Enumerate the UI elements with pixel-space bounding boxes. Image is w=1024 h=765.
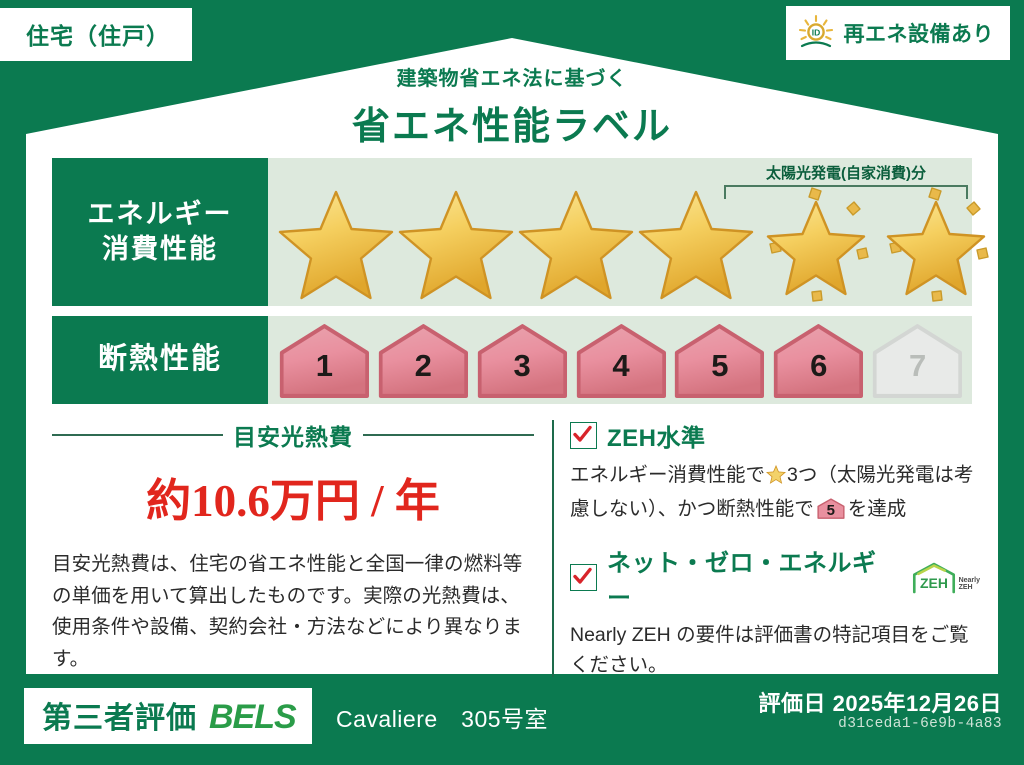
zeh-logo-sub-line1: Nearly	[959, 577, 980, 584]
insulation-grade-house: 5	[673, 322, 766, 400]
utility-cost-block: 目安光熱費 約10.6万円 / 年 目安光熱費は、住宅の省エネ性能と全国一律の燃…	[52, 418, 552, 681]
zeh-block: ZEH水準 エネルギー消費性能で3つ（太陽光発電は考慮しない）、かつ断熱性能で5…	[570, 418, 980, 681]
star-filled	[276, 186, 396, 304]
insulation-grade-house: 2	[377, 322, 470, 400]
utility-cost-value: 約10.6万円 / 年	[52, 464, 534, 529]
star-filled	[516, 186, 636, 304]
star-filled-solar	[876, 186, 996, 304]
net-zero-energy-check: ネット・ゼロ・エネルギー ZEH Nearly ZEH	[570, 543, 980, 613]
star-filled	[636, 186, 756, 304]
label-title-block: 建築物省エネ法に基づく 省エネ性能ラベル	[0, 62, 1024, 150]
page-title: 省エネ性能ラベル	[0, 95, 1024, 150]
utility-cost-heading: 目安光熱費	[52, 418, 534, 452]
zeh-body-post: を達成	[848, 498, 907, 520]
details-section: 目安光熱費 約10.6万円 / 年 目安光熱費は、住宅の省エネ性能と全国一律の燃…	[52, 418, 980, 681]
star-filled	[396, 186, 516, 304]
renewable-energy-badge: ID 再エネ設備あり	[786, 6, 1011, 60]
solar-annotation-label: 太陽光発電(自家消費)分	[724, 162, 968, 183]
renewable-badge-label: 再エネ設備あり	[844, 18, 995, 48]
sun-renewable-icon: ID	[796, 13, 836, 53]
energy-star-rating	[276, 186, 966, 304]
insulation-grade-house: 1	[278, 322, 371, 400]
zeh-standard-check: ZEH水準	[570, 418, 980, 453]
zeh-logo: ZEH Nearly ZEH	[911, 561, 980, 595]
net-zero-energy-title: ネット・ゼロ・エネルギー	[607, 543, 895, 613]
net-zero-energy-body: Nearly ZEH の要件は評価書の特記項目をご覧ください。	[570, 620, 980, 682]
label-footer: 第三者評価 BELS Cavaliere 305号室 評価日 2025年12月2…	[0, 674, 1024, 765]
star-filled-solar	[756, 186, 876, 304]
zeh-standard-title: ZEH水準	[607, 418, 706, 453]
svg-text:ID: ID	[811, 28, 820, 38]
insulation-grade-area: 1 2 3 4 5	[268, 316, 972, 404]
zeh-logo-sub: Nearly ZEH	[959, 577, 980, 595]
insulation-grade-house-inactive: 7	[871, 322, 964, 400]
insulation-grade-house: 4	[575, 322, 668, 400]
energy-performance-row: エネルギー 消費性能 太陽光発電(自家消費)分	[52, 158, 972, 306]
svg-text:ZEH: ZEH	[920, 574, 948, 590]
property-name: Cavaliere 305号室	[336, 700, 548, 734]
checkmark-icon	[570, 422, 597, 449]
energy-star-area: 太陽光発電(自家消費)分	[268, 158, 972, 306]
insulation-grade-house: 3	[476, 322, 569, 400]
zeh-logo-sub-line2: ZEH	[959, 584, 973, 591]
label-background: 住宅（住戸） ID 再エネ設備あり 建築物省エネ法に基づく	[0, 0, 1024, 765]
insulation-grade-inline-value: 5	[817, 498, 845, 520]
insulation-grade-inline-badge: 5	[817, 498, 845, 520]
utility-cost-description: 目安光熱費は、住宅の省エネ性能と全国一律の燃料等の単価を用いて算出したものです。…	[52, 549, 534, 675]
evaluation-date-label: 評価日	[758, 691, 826, 716]
zeh-body-pre: エネルギー消費性能で	[570, 464, 765, 486]
insulation-grade-scale: 1 2 3 4 5	[278, 322, 964, 400]
column-divider	[552, 420, 554, 677]
title-subtitle: 建築物省エネ法に基づく	[0, 62, 1024, 91]
insulation-performance-row: 断熱性能 1 2 3	[52, 316, 972, 404]
checkmark-icon	[570, 564, 597, 591]
heading-rule-right	[363, 434, 534, 436]
performance-section: エネルギー 消費性能 太陽光発電(自家消費)分	[52, 158, 972, 414]
insulation-performance-label: 断熱性能	[52, 316, 268, 404]
evaluation-date-value: 2025年12月26日	[833, 691, 1002, 716]
bels-jp-label: 第三者評価	[42, 693, 197, 737]
zeh-standard-body: エネルギー消費性能で3つ（太陽光発電は考慮しない）、かつ断熱性能で5を達成	[570, 460, 980, 525]
evaluation-date: 評価日 2025年12月26日	[758, 686, 1002, 718]
bels-certification-mark: 第三者評価 BELS	[24, 688, 312, 744]
energy-performance-label: エネルギー 消費性能	[52, 158, 268, 306]
star-inline-icon	[766, 467, 786, 489]
utility-cost-heading-label: 目安光熱費	[233, 418, 353, 452]
insulation-grade-house: 6	[772, 322, 865, 400]
bels-en-label: BELS	[209, 698, 296, 737]
evaluation-id: d31ceda1-6e9b-4a83	[838, 716, 1002, 732]
building-type-tag: 住宅（住戸）	[0, 8, 192, 61]
heading-rule-left	[52, 434, 223, 436]
